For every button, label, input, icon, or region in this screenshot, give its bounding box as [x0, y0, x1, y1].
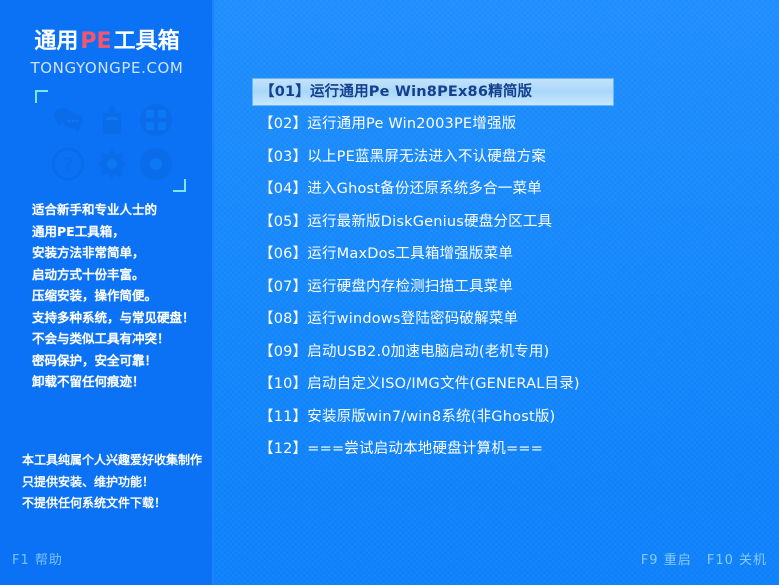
brand-logo: 通用PE工具箱 TONGYONGPE.COM	[0, 28, 214, 77]
menu-item-10[interactable]: 【10】启动自定义ISO/IMG文件(GENERAL目录)	[252, 371, 652, 399]
menu-item-01[interactable]: 【01】运行通用Pe Win8PEx86精简版	[252, 78, 614, 106]
menu-item-label: 【10】启动自定义ISO/IMG文件(GENERAL目录)	[259, 377, 580, 392]
corner-bracket-bottom-right-icon	[173, 179, 186, 192]
question-mark-icon: ?	[50, 146, 86, 182]
disc-icon	[138, 146, 174, 182]
menu-item-label: 【12】===尝试启动本地硬盘计算机===	[259, 442, 543, 457]
menu-item-label: 【02】运行通用Pe Win2003PE增强版	[259, 117, 516, 132]
menu-item-04[interactable]: 【04】进入Ghost备份还原系统多合一菜单	[252, 176, 652, 204]
feature-line: 安装方法非常简单，	[32, 242, 214, 264]
feature-line: 密码保护，安全可靠！	[32, 350, 214, 372]
menu-item-label: 【08】运行windows登陆密码破解菜单	[259, 312, 518, 327]
feature-line: 压缩安装，操作简便。	[32, 285, 214, 307]
watermark-icon-block: ?	[30, 88, 188, 192]
usb-lock-icon	[94, 102, 130, 138]
sidebar-footnote: 本工具纯属个人兴趣爱好收集制作 只提供安装、维护功能！ 不提供任何系统文件下载！	[22, 450, 214, 515]
menu-item-09[interactable]: 【09】启动USB2.0加速电脑启动(老机专用)	[252, 338, 652, 366]
logo-text: 通用PE工具箱	[0, 28, 214, 56]
feature-line: 卸载不留任何痕迹！	[32, 371, 214, 393]
menu-item-05[interactable]: 【05】运行最新版DiskGenius硬盘分区工具	[252, 208, 652, 236]
feature-line: 启动方式十份丰富。	[32, 264, 214, 286]
menu-item-11[interactable]: 【11】安装原版win7/win8系统(非Ghost版)	[252, 403, 652, 431]
menu-item-label: 【03】以上PE蓝黑屏无法进入不认硬盘方案	[259, 150, 546, 165]
menu-item-03[interactable]: 【03】以上PE蓝黑屏无法进入不认硬盘方案	[252, 143, 652, 171]
menu-item-label: 【06】运行MaxDos工具箱增强版菜单	[259, 247, 513, 262]
boot-menu-screen: 通用PE工具箱 TONGYONGPE.COM	[0, 0, 779, 585]
svg-text:?: ?	[63, 154, 73, 176]
menu-item-label: 【11】安装原版win7/win8系统(非Ghost版)	[259, 410, 555, 425]
brand-url: TONGYONGPE.COM	[0, 59, 214, 77]
logo-text-pe: PE	[78, 29, 113, 54]
menu-item-label: 【09】启动USB2.0加速电脑启动(老机专用)	[259, 345, 549, 360]
footnote-line: 不提供任何系统文件下载！	[22, 493, 214, 515]
corner-bracket-top-left-icon	[35, 90, 48, 103]
menu-item-label: 【07】运行硬盘内存检测扫描工具菜单	[259, 280, 513, 295]
logo-text-cn-right: 工具箱	[114, 29, 180, 54]
feature-line: 支持多种系统，与常见硬盘！	[32, 307, 214, 329]
sidebar-feature-list: 适合新手和专业人士的 通用PE工具箱， 安装方法非常简单， 启动方式十份丰富。 …	[32, 199, 214, 393]
menu-item-12[interactable]: 【12】===尝试启动本地硬盘计算机===	[252, 436, 652, 464]
sidebar: 通用PE工具箱 TONGYONGPE.COM	[0, 0, 214, 585]
menu-item-08[interactable]: 【08】运行windows登陆密码破解菜单	[252, 306, 652, 334]
feature-line: 通用PE工具箱，	[32, 221, 214, 243]
menu-item-07[interactable]: 【07】运行硬盘内存检测扫描工具菜单	[252, 273, 652, 301]
menu-item-02[interactable]: 【02】运行通用Pe Win2003PE增强版	[252, 111, 652, 139]
feature-line: 不会与类似工具有冲突！	[32, 328, 214, 350]
menu-item-label: 【05】运行最新版DiskGenius硬盘分区工具	[259, 215, 552, 230]
footnote-line: 只提供安装、维护功能！	[22, 472, 214, 494]
gear-icon	[94, 146, 130, 182]
menu-item-label: 【04】进入Ghost备份还原系统多合一菜单	[259, 182, 542, 197]
main-panel: 【01】运行通用Pe Win8PEx86精简版 【02】运行通用Pe Win20…	[214, 0, 779, 585]
logo-text-cn-left: 通用	[34, 29, 78, 54]
boot-menu-list: 【01】运行通用Pe Win8PEx86精简版 【02】运行通用Pe Win20…	[252, 78, 652, 468]
menu-item-06[interactable]: 【06】运行MaxDos工具箱增强版菜单	[252, 241, 652, 269]
chat-bubbles-icon	[50, 102, 86, 138]
footnote-line: 本工具纯属个人兴趣爱好收集制作	[22, 450, 214, 472]
feature-line: 适合新手和专业人士的	[32, 199, 214, 221]
grid-disk-icon	[138, 102, 174, 138]
menu-item-label: 【01】运行通用Pe Win8PEx86精简版	[260, 85, 532, 100]
